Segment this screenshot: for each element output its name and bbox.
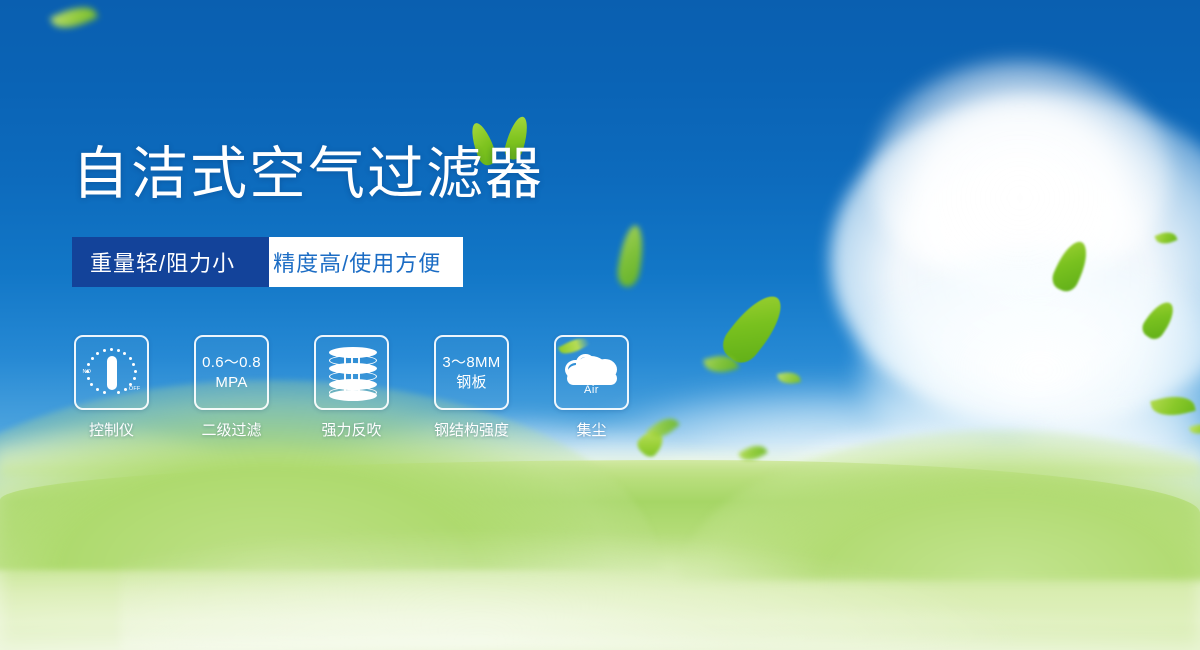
feature-item-steel-strength[interactable]: 3～8MM 钢板 钢结构强度 (432, 335, 511, 440)
feature-icon-box: 3～8MM 钢板 (434, 335, 509, 410)
gauge-off-label: OFF (129, 386, 141, 392)
feature-item-dust-collection[interactable]: Air 集尘 (552, 335, 631, 440)
air-label: Air (563, 384, 621, 396)
filter-coil-icon (326, 346, 378, 400)
cloud-swirl (576, 354, 595, 372)
pressure-unit: MPA (202, 373, 261, 392)
feature-item-secondary-filter[interactable]: 0.6～0.8 MPA 二级过滤 (192, 335, 271, 440)
feature-icon-box: Air (554, 335, 629, 410)
feature-label: 强力反吹 (321, 419, 381, 440)
product-banner: 自洁式空气过滤器 重量轻/阻力小 精度高/使用方便 (0, 0, 1200, 650)
feature-item-controller[interactable]: NO OFF 控制仪 (72, 335, 151, 440)
tagline-right: 精度高/使用方便 (247, 237, 463, 287)
gauge-needle (107, 356, 117, 390)
feature-icon-box: NO OFF (74, 335, 149, 410)
feature-label: 二级过滤 (201, 419, 261, 440)
tagline-bar: 重量轻/阻力小 精度高/使用方便 (72, 237, 463, 287)
pressure-range: 0.6～0.8 (202, 354, 261, 371)
steel-thickness: 3～8MM (442, 354, 500, 371)
feature-label: 钢结构强度 (434, 419, 509, 440)
feature-label: 控制仪 (89, 419, 134, 440)
feature-icon-box: 0.6～0.8 MPA (194, 335, 269, 410)
feature-item-reverse-blow[interactable]: 强力反吹 (312, 335, 391, 440)
gauge-on-label: NO (83, 369, 92, 375)
feature-icon-box (314, 335, 389, 410)
steel-text-icon: 3～8MM 钢板 (442, 353, 500, 391)
steel-material: 钢板 (442, 373, 500, 392)
page-title: 自洁式空气过滤器 (72, 146, 544, 203)
cloud-air-icon: Air (563, 348, 621, 398)
tagline-left: 重量轻/阻力小 (72, 237, 269, 287)
feature-list: NO OFF 控制仪 0.6～0.8 MPA 二级过滤 (72, 335, 631, 440)
banner-content: 自洁式空气过滤器 重量轻/阻力小 精度高/使用方便 (0, 0, 1200, 650)
pressure-text-icon: 0.6～0.8 MPA (202, 353, 261, 391)
feature-label: 集尘 (576, 419, 606, 440)
gauge-icon: NO OFF (83, 345, 141, 401)
